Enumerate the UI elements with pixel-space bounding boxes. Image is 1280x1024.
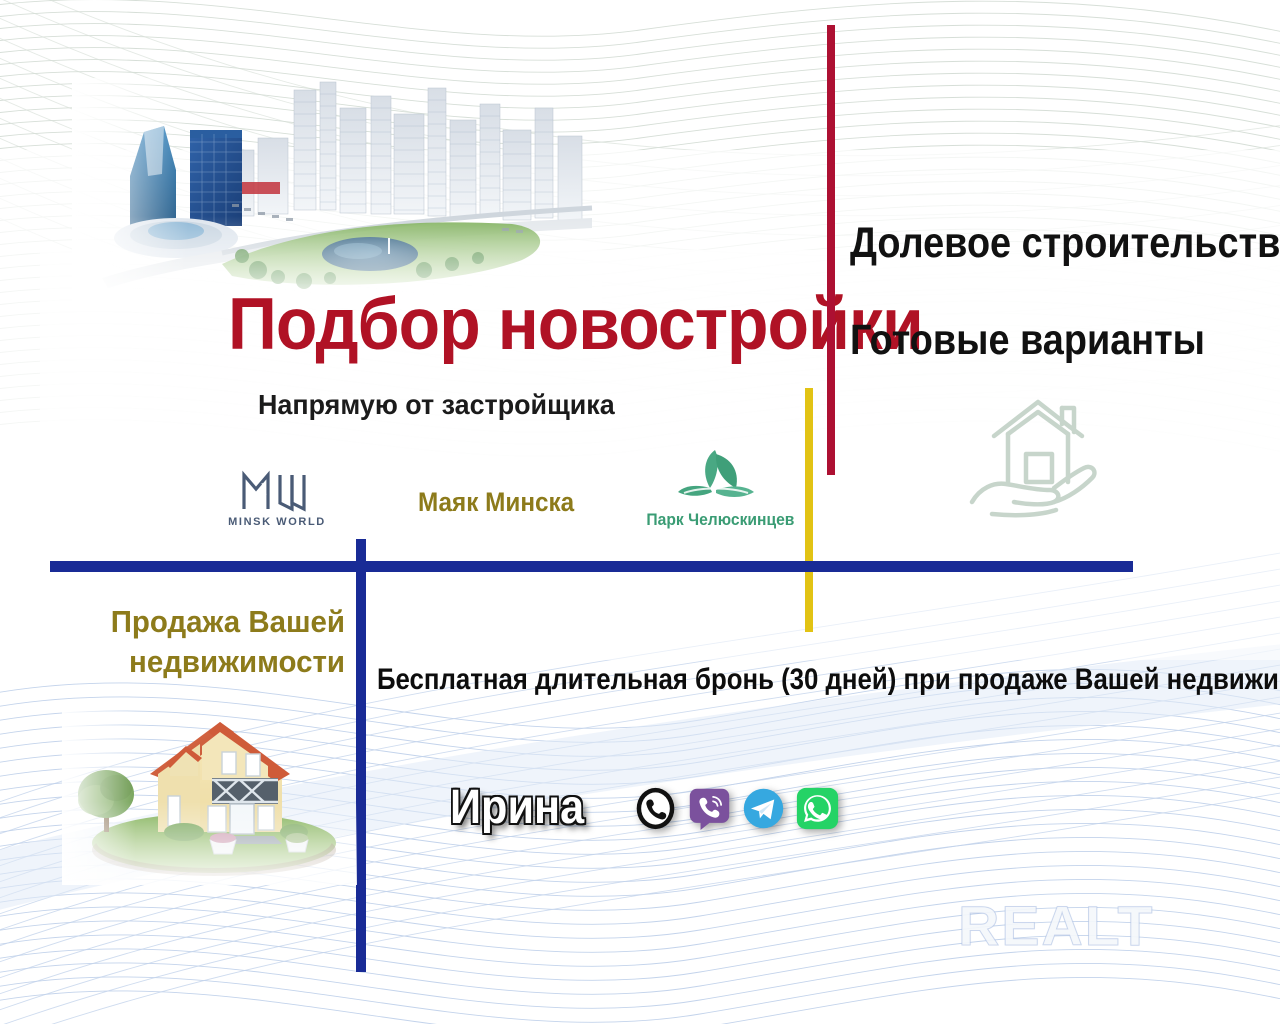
offer-line-ready-options: Готовые варианты	[850, 316, 1205, 364]
green-leaf-icon	[660, 442, 770, 504]
logo-park-caption: Парк Челюскинцев	[646, 510, 794, 530]
whatsapp-icon[interactable]	[796, 787, 839, 830]
free-booking-offer-text: Бесплатная длительная бронь (30 дней) пр…	[377, 662, 1280, 698]
phone-icon[interactable]	[634, 787, 677, 830]
sell-your-property-heading: Продажа Вашей недвижимости	[74, 602, 345, 682]
blue-vertical-rule	[356, 539, 366, 972]
cityscape-photo	[72, 78, 602, 308]
page-title: Подбор новостройки	[228, 287, 923, 363]
contact-icons-group	[634, 787, 839, 830]
sell-line-1: Продажа Вашей	[74, 602, 345, 642]
telegram-icon[interactable]	[742, 787, 785, 830]
page-subtitle: Напрямую от застройщика	[258, 389, 615, 421]
offer-line-shared-construction: Долевое строительство	[850, 219, 1280, 267]
logo-minsk-world-caption: MINSK WORLD	[222, 516, 332, 528]
yellow-vertical-rule	[805, 388, 813, 632]
logo-minsk-world: MINSK WORLD	[222, 463, 332, 535]
blue-horizontal-rule	[50, 561, 1133, 572]
cottage-photo	[62, 700, 357, 885]
logo-park-chelyuskintsev: Парк Челюскинцев	[640, 442, 790, 530]
realt-watermark: REALT	[958, 893, 1154, 958]
viber-icon[interactable]	[688, 787, 731, 830]
logo-mayak-minska: Маяк Минска	[418, 487, 574, 518]
red-vertical-rule	[827, 25, 835, 475]
mw-monogram-icon	[222, 463, 332, 515]
agent-name: Ирина	[450, 780, 584, 836]
house-in-hand-icon	[958, 390, 1118, 530]
banner-canvas: Подбор новостройки Напрямую от застройщи…	[0, 0, 1280, 1024]
sell-line-2: недвижимости	[74, 642, 345, 682]
